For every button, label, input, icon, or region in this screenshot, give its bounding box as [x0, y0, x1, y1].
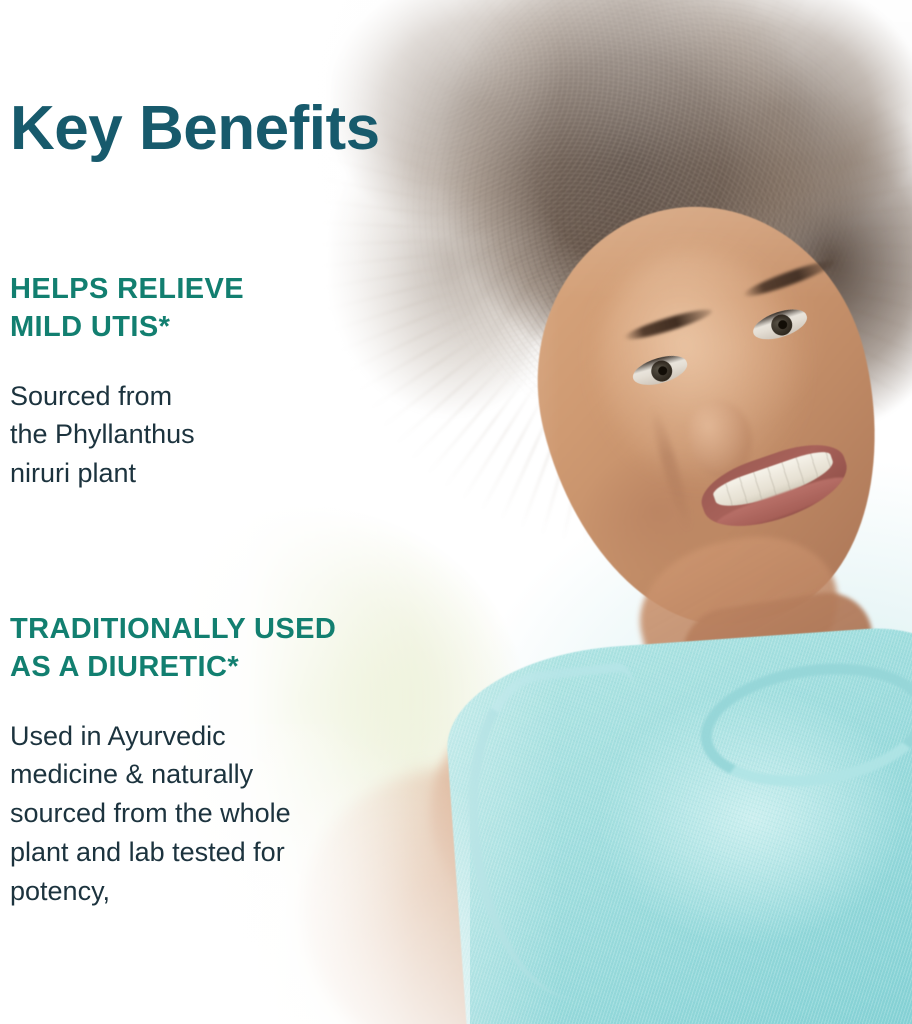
benefit-heading-2: TRADITIONALLY USED AS A DIURETIC* — [10, 610, 430, 687]
benefit-body-1: Sourced from the Phyllanthus niruri plan… — [10, 377, 430, 494]
benefit-item-1: HELPS RELIEVE MILD UTIs* Sourced from th… — [10, 270, 430, 493]
benefit-body-2: Used in Ayurvedic medicine & naturally s… — [10, 717, 430, 911]
benefit-item-2: TRADITIONALLY USED AS A DIURETIC* Used i… — [10, 610, 430, 911]
benefit-heading-1: HELPS RELIEVE MILD UTIs* — [10, 270, 430, 347]
content-layer: Key Benefits HELPS RELIEVE MILD UTIs* So… — [0, 0, 912, 1024]
key-benefits-canvas: Key Benefits HELPS RELIEVE MILD UTIs* So… — [0, 0, 912, 1024]
page-title: Key Benefits — [10, 96, 380, 161]
